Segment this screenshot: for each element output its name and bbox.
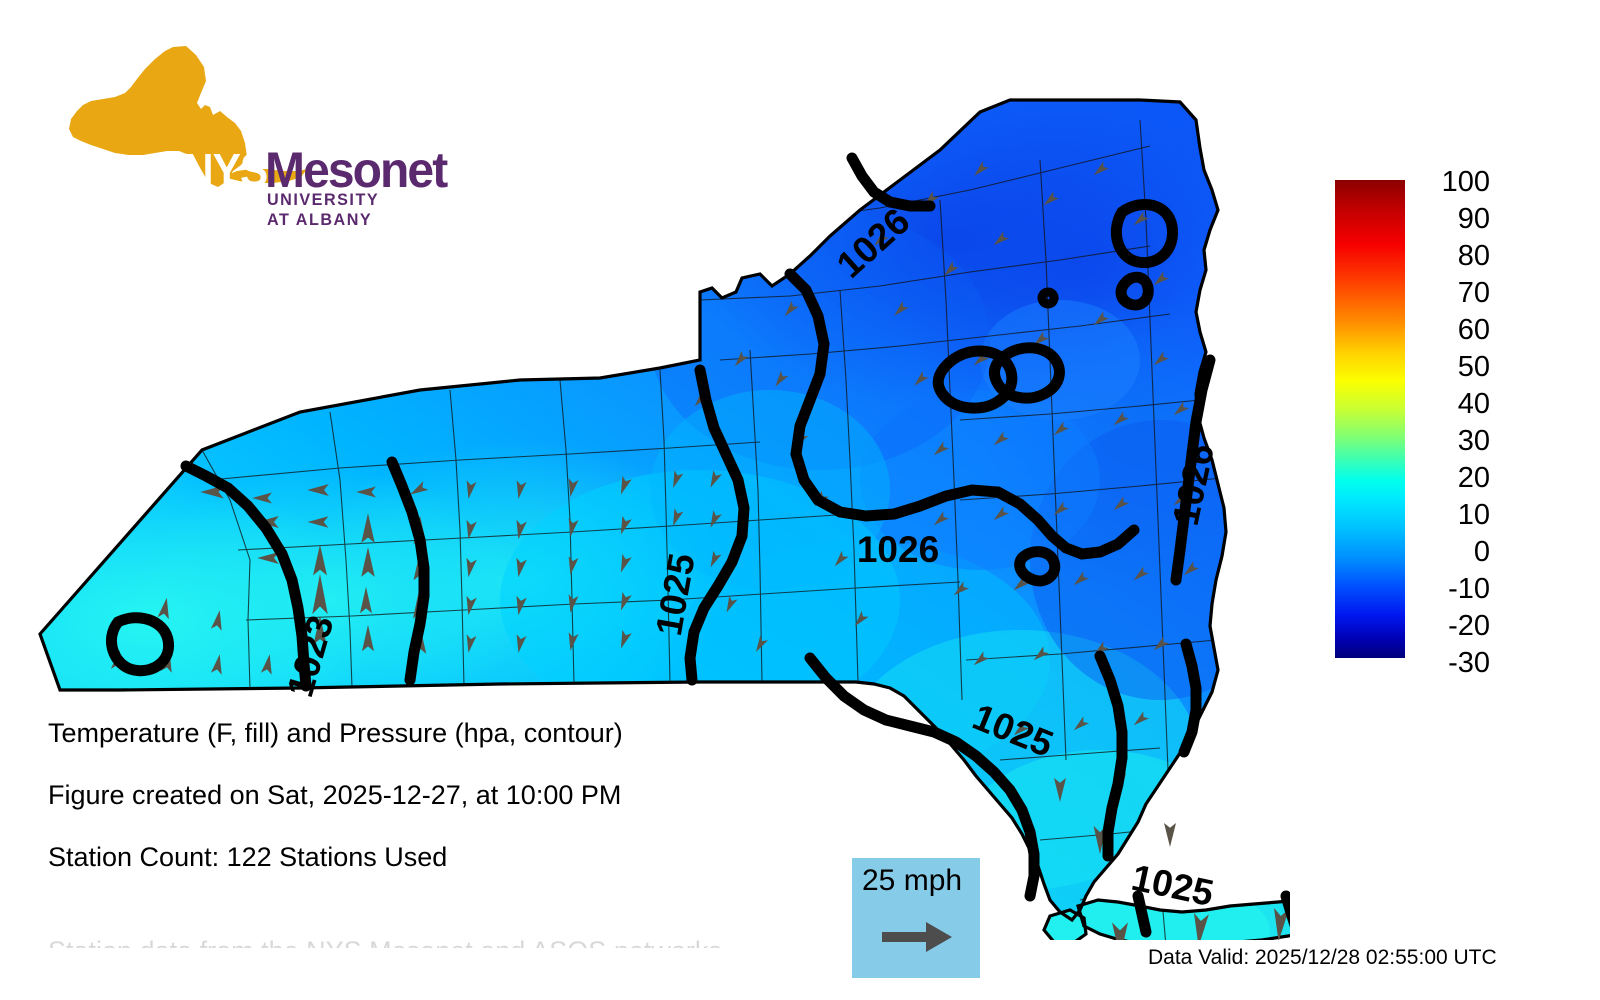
colorbar-tick-neg10: -10 [1448,575,1490,604]
figure-caption: Temperature (F, fill) and Pressure (hpa,… [48,718,868,904]
colorbar-tick-60: 60 [1458,316,1490,345]
colorbar-tick-0: 0 [1474,538,1490,567]
colorbar-tick-neg30: -30 [1448,649,1490,678]
colorbar-tick-labels: 100 90 80 70 60 50 40 30 20 10 0 -10 -20… [1415,168,1490,678]
wind-legend-label: 25 mph [862,864,962,898]
data-valid-timestamp: Data Valid: 2025/12/28 02:55:00 UTC [1148,946,1497,970]
wind-arrow-icon [882,920,954,954]
contour-label-1026-center: 1026 [857,529,939,570]
colorbar-tick-30: 30 [1458,427,1490,456]
caption-clipped-text: Station data from the NYS Mesonet and AS… [48,938,868,948]
colorbar-tick-90: 90 [1458,205,1490,234]
temperature-colorbar [1335,180,1405,658]
colorbar-tick-100: 100 [1442,168,1490,197]
colorbar-gradient [1335,180,1405,658]
caption-station-count: Station Count: 122 Stations Used [48,842,868,873]
weather-map-figure: NYS Mesonet UNIVERSITY AT ALBANY [0,0,1600,1000]
caption-title: Temperature (F, fill) and Pressure (hpa,… [48,718,868,749]
wind-speed-legend: 25 mph [852,858,980,978]
colorbar-tick-40: 40 [1458,390,1490,419]
colorbar-tick-50: 50 [1458,353,1490,382]
colorbar-tick-10: 10 [1458,501,1490,530]
caption-created: Figure created on Sat, 2025-12-27, at 10… [48,780,868,811]
colorbar-tick-neg20: -20 [1448,612,1490,641]
colorbar-tick-70: 70 [1458,279,1490,308]
colorbar-tick-80: 80 [1458,242,1490,271]
colorbar-tick-20: 20 [1458,464,1490,493]
caption-clipped-line: Station data from the NYS Mesonet and AS… [48,938,868,948]
